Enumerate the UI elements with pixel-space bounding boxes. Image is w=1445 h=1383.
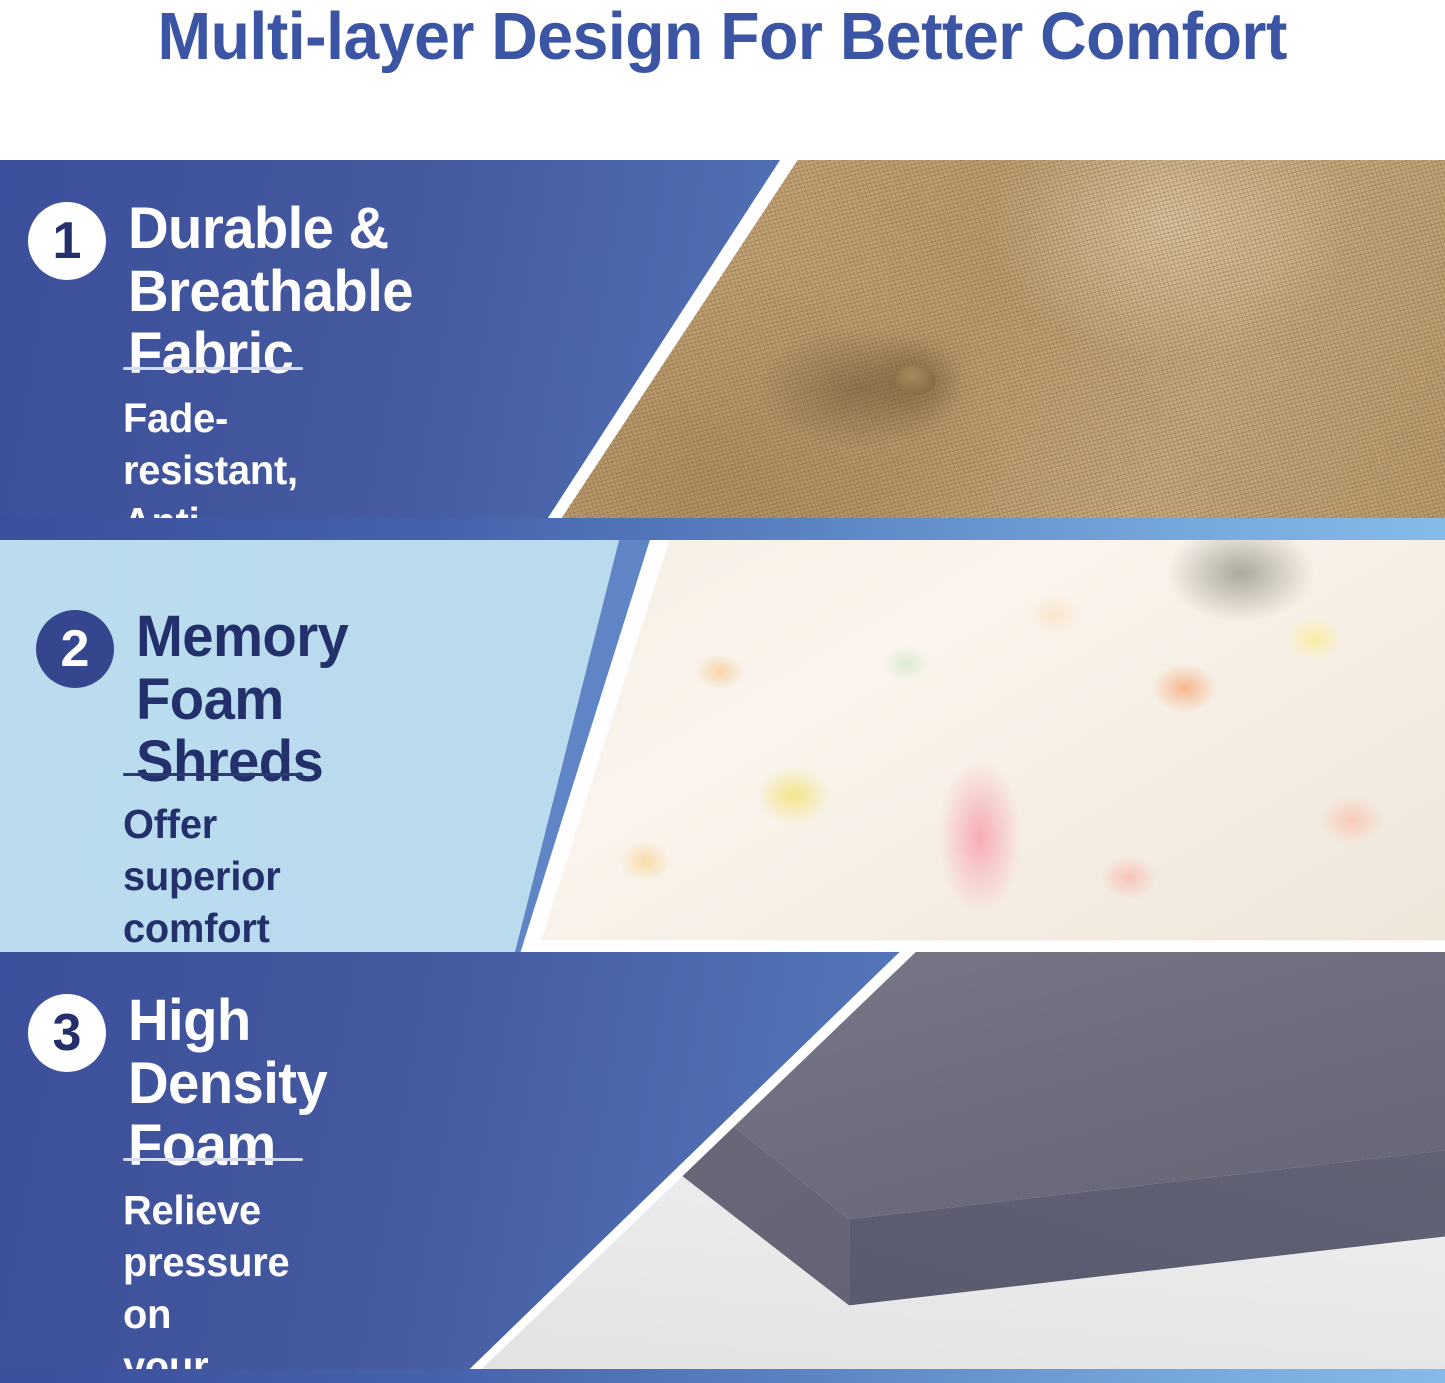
fabric-tuft-button <box>896 365 936 395</box>
panel-1-heading: Durable & Breathable Fabric <box>128 198 413 386</box>
page-title: Multi-layer Design For Better Comfort <box>158 2 1287 72</box>
panel-2-heading-line-1: Memory Foam <box>136 606 348 731</box>
feature-panel-3: 3 High Density Foam Relieve pressure on … <box>0 952 1445 1383</box>
panel-1-divider <box>123 367 303 370</box>
panel-3-heading: High Density Foam <box>128 990 327 1178</box>
fabric-photo <box>515 160 1445 540</box>
step-badge-2: 2 <box>36 610 114 688</box>
panel-2-heading-row: 2 Memory Foam Shreds <box>36 610 355 794</box>
panel-2-image-wedge <box>515 540 1445 952</box>
panel-3-heading-line-1: High Density <box>128 990 327 1115</box>
panel-2-divider <box>123 773 303 776</box>
panel-1-sub-line-1: Fade-resistant, <box>123 392 298 496</box>
panel-3-divider <box>123 1158 303 1161</box>
panel-2-heading: Memory Foam Shreds <box>136 606 348 794</box>
panel-3-heading-row: 3 High Density Foam <box>28 994 333 1178</box>
panel-3-image-wedge <box>435 952 1445 1383</box>
panel-2-heading-line-2: Shreds <box>136 731 348 794</box>
panel-3-sub-line-1: Relieve pressure on <box>123 1184 289 1340</box>
feature-panel-2: 2 Memory Foam Shreds Offer superior comf… <box>0 540 1445 952</box>
high-density-foam-photo <box>435 952 1445 1383</box>
step-badge-1: 1 <box>28 202 106 280</box>
product-infographic: Multi-layer Design For Better Comfort 1 … <box>0 0 1445 1383</box>
panel-1-image-wedge <box>515 160 1445 540</box>
foam-shreds-photo <box>515 540 1445 952</box>
title-bar: Multi-layer Design For Better Comfort <box>0 0 1445 160</box>
panel-1-heading-row: 1 Durable & Breathable Fabric <box>28 202 422 386</box>
feature-panel-1: 1 Durable & Breathable Fabric Fade-resis… <box>0 160 1445 540</box>
panel-3-subtext: Relieve pressure on your hips and tailbo… <box>123 1184 289 1383</box>
panel-2-subtext: Offer superior comfort and support <box>123 798 281 952</box>
step-badge-3: 3 <box>28 994 106 1072</box>
panel-3-accent-strip <box>0 1369 1445 1383</box>
foam-block-top-face <box>435 952 1445 1383</box>
panel-2-sub-line-1: Offer superior comfort <box>123 798 281 952</box>
panel-3-heading-line-2: Foam <box>128 1115 327 1178</box>
panel-1-heading-line-1: Durable & <box>128 198 413 261</box>
panel-1-accent-strip <box>0 518 1445 540</box>
